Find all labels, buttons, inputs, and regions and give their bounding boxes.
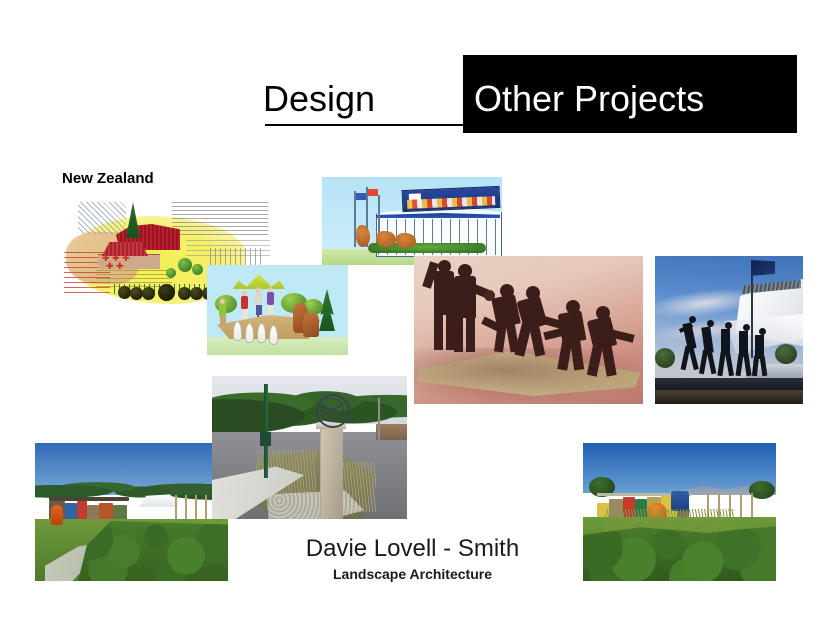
region-label: New Zealand	[62, 170, 154, 187]
site-shrub	[192, 264, 203, 275]
sculpture-figure-head	[759, 328, 766, 335]
person-legs	[256, 305, 262, 315]
photo-orange-play-element	[51, 505, 63, 525]
illustration-bowling-pin	[245, 323, 254, 343]
illustration-bowling-pin	[233, 321, 242, 341]
playground-photo-right	[583, 443, 776, 581]
site-feature-tree-symbol	[158, 284, 175, 301]
building-entrance-sketch	[322, 177, 502, 265]
site-shrub	[178, 258, 192, 272]
photo-blue-play-element	[671, 491, 689, 511]
photo-foreground	[655, 390, 803, 404]
photo-flag-mast	[751, 274, 753, 358]
park-playground-photo-left	[35, 443, 228, 581]
presentation-slide: Design Other Projects New Zealand ✚ ✚ ✚ …	[0, 0, 825, 618]
circular-steel-artwork-detail	[320, 398, 344, 422]
lamp-post-box	[260, 432, 271, 446]
title-underline-rule	[265, 124, 464, 126]
sculpture-figure-head	[743, 324, 750, 331]
site-shrub	[166, 268, 176, 278]
sketch-flag	[356, 193, 366, 200]
sketch-signage-panel	[402, 186, 501, 212]
person-legs	[220, 317, 226, 327]
person-torso	[241, 296, 248, 309]
sketch-flag	[368, 189, 378, 196]
photo-tree	[775, 344, 797, 364]
title-banner-label: Other Projects	[474, 78, 704, 120]
concrete-pillar	[320, 426, 343, 519]
photo-power-pole	[378, 398, 380, 442]
sketch-horse-sculpture	[376, 231, 396, 247]
person-torso	[267, 292, 274, 305]
photo-distant-building	[376, 424, 407, 440]
site-inset-sketch	[78, 202, 126, 234]
illustration-bowling-pin	[257, 323, 266, 343]
silhouette-leg	[454, 316, 463, 352]
site-annotation-block	[172, 202, 268, 236]
running-figures-sculpture-photo	[655, 256, 803, 404]
pathway-pillar-photo	[212, 376, 407, 519]
silhouette-torso	[434, 271, 454, 315]
person-legs	[242, 309, 248, 319]
illustration-seated-figure-sculpture	[303, 313, 319, 337]
sculpture-figure-head	[725, 322, 732, 329]
play-roof	[49, 497, 129, 501]
site-tree-symbol	[142, 287, 155, 300]
photo-tree	[655, 348, 675, 368]
sketch-signage-logo	[409, 193, 422, 208]
photo-shrub-bed	[583, 525, 776, 581]
green-lamp-post	[264, 384, 268, 478]
photo-flag	[751, 260, 775, 276]
person-torso	[219, 304, 226, 317]
sketch-horse-sculpture	[356, 225, 370, 247]
person-legs	[268, 305, 274, 315]
person-torso	[255, 292, 262, 305]
park-plaza-illustration	[207, 265, 348, 355]
silhouette-model-photo	[414, 256, 643, 404]
site-marker-cluster: ✚ ✚	[106, 262, 124, 271]
silhouette-leg	[466, 318, 475, 352]
illustration-bowling-pin	[269, 325, 278, 345]
silhouette-leg	[434, 312, 443, 350]
page-title: Design	[263, 78, 375, 120]
sketch-horse-sculpture	[396, 233, 416, 248]
